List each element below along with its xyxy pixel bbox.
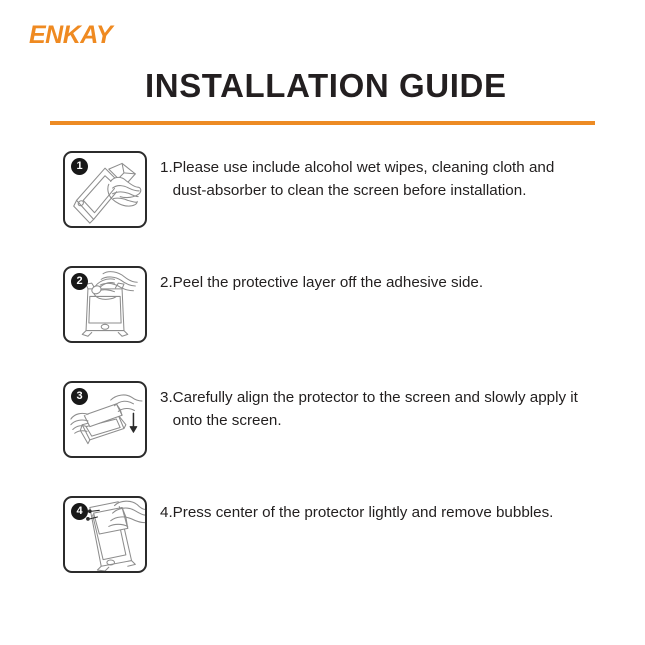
step-number-badge: 4 <box>71 503 88 520</box>
list-item: 4 4. Press center of the protector light… <box>0 492 645 607</box>
step-3-illustration: 3 <box>63 381 147 458</box>
step-number-badge: 2 <box>71 273 88 290</box>
step-text: 1. Please use include alcohol wet wipes,… <box>160 156 645 203</box>
step-number-badge: 3 <box>71 388 88 405</box>
step-description: Carefully align the protector to the scr… <box>173 386 585 433</box>
step-4-illustration: 4 <box>63 496 147 573</box>
header-divider <box>50 121 595 125</box>
steps-list: 1 1. Please use include alcohol wet wipe… <box>0 147 645 607</box>
step-marker: 4. <box>160 501 173 524</box>
step-description: Peel the protective layer off the adhesi… <box>173 271 585 294</box>
step-text: 3. Carefully align the protector to the … <box>160 386 645 433</box>
list-item: 3 3. Carefully align the protector to th… <box>0 377 645 492</box>
list-item: 1 1. Please use include alcohol wet wipe… <box>0 147 645 262</box>
step-text: 2. Peel the protective layer off the adh… <box>160 271 645 294</box>
step-marker: 1. <box>160 156 173 179</box>
step-1-illustration: 1 <box>63 151 147 228</box>
page-title: INSTALLATION GUIDE <box>145 68 507 104</box>
step-description: Press center of the protector lightly an… <box>173 501 585 524</box>
step-marker: 2. <box>160 271 173 294</box>
step-text: 4. Press center of the protector lightly… <box>160 501 645 524</box>
installation-guide-page: ENKAY INSTALLATION GUIDE <box>0 0 645 645</box>
list-item: 2 2. Peel the protective layer off the a… <box>0 262 645 377</box>
step-description: Please use include alcohol wet wipes, cl… <box>173 156 585 203</box>
step-2-illustration: 2 <box>63 266 147 343</box>
enkay-logo: ENKAY <box>29 23 112 48</box>
step-number-badge: 1 <box>71 158 88 175</box>
step-marker: 3. <box>160 386 173 409</box>
